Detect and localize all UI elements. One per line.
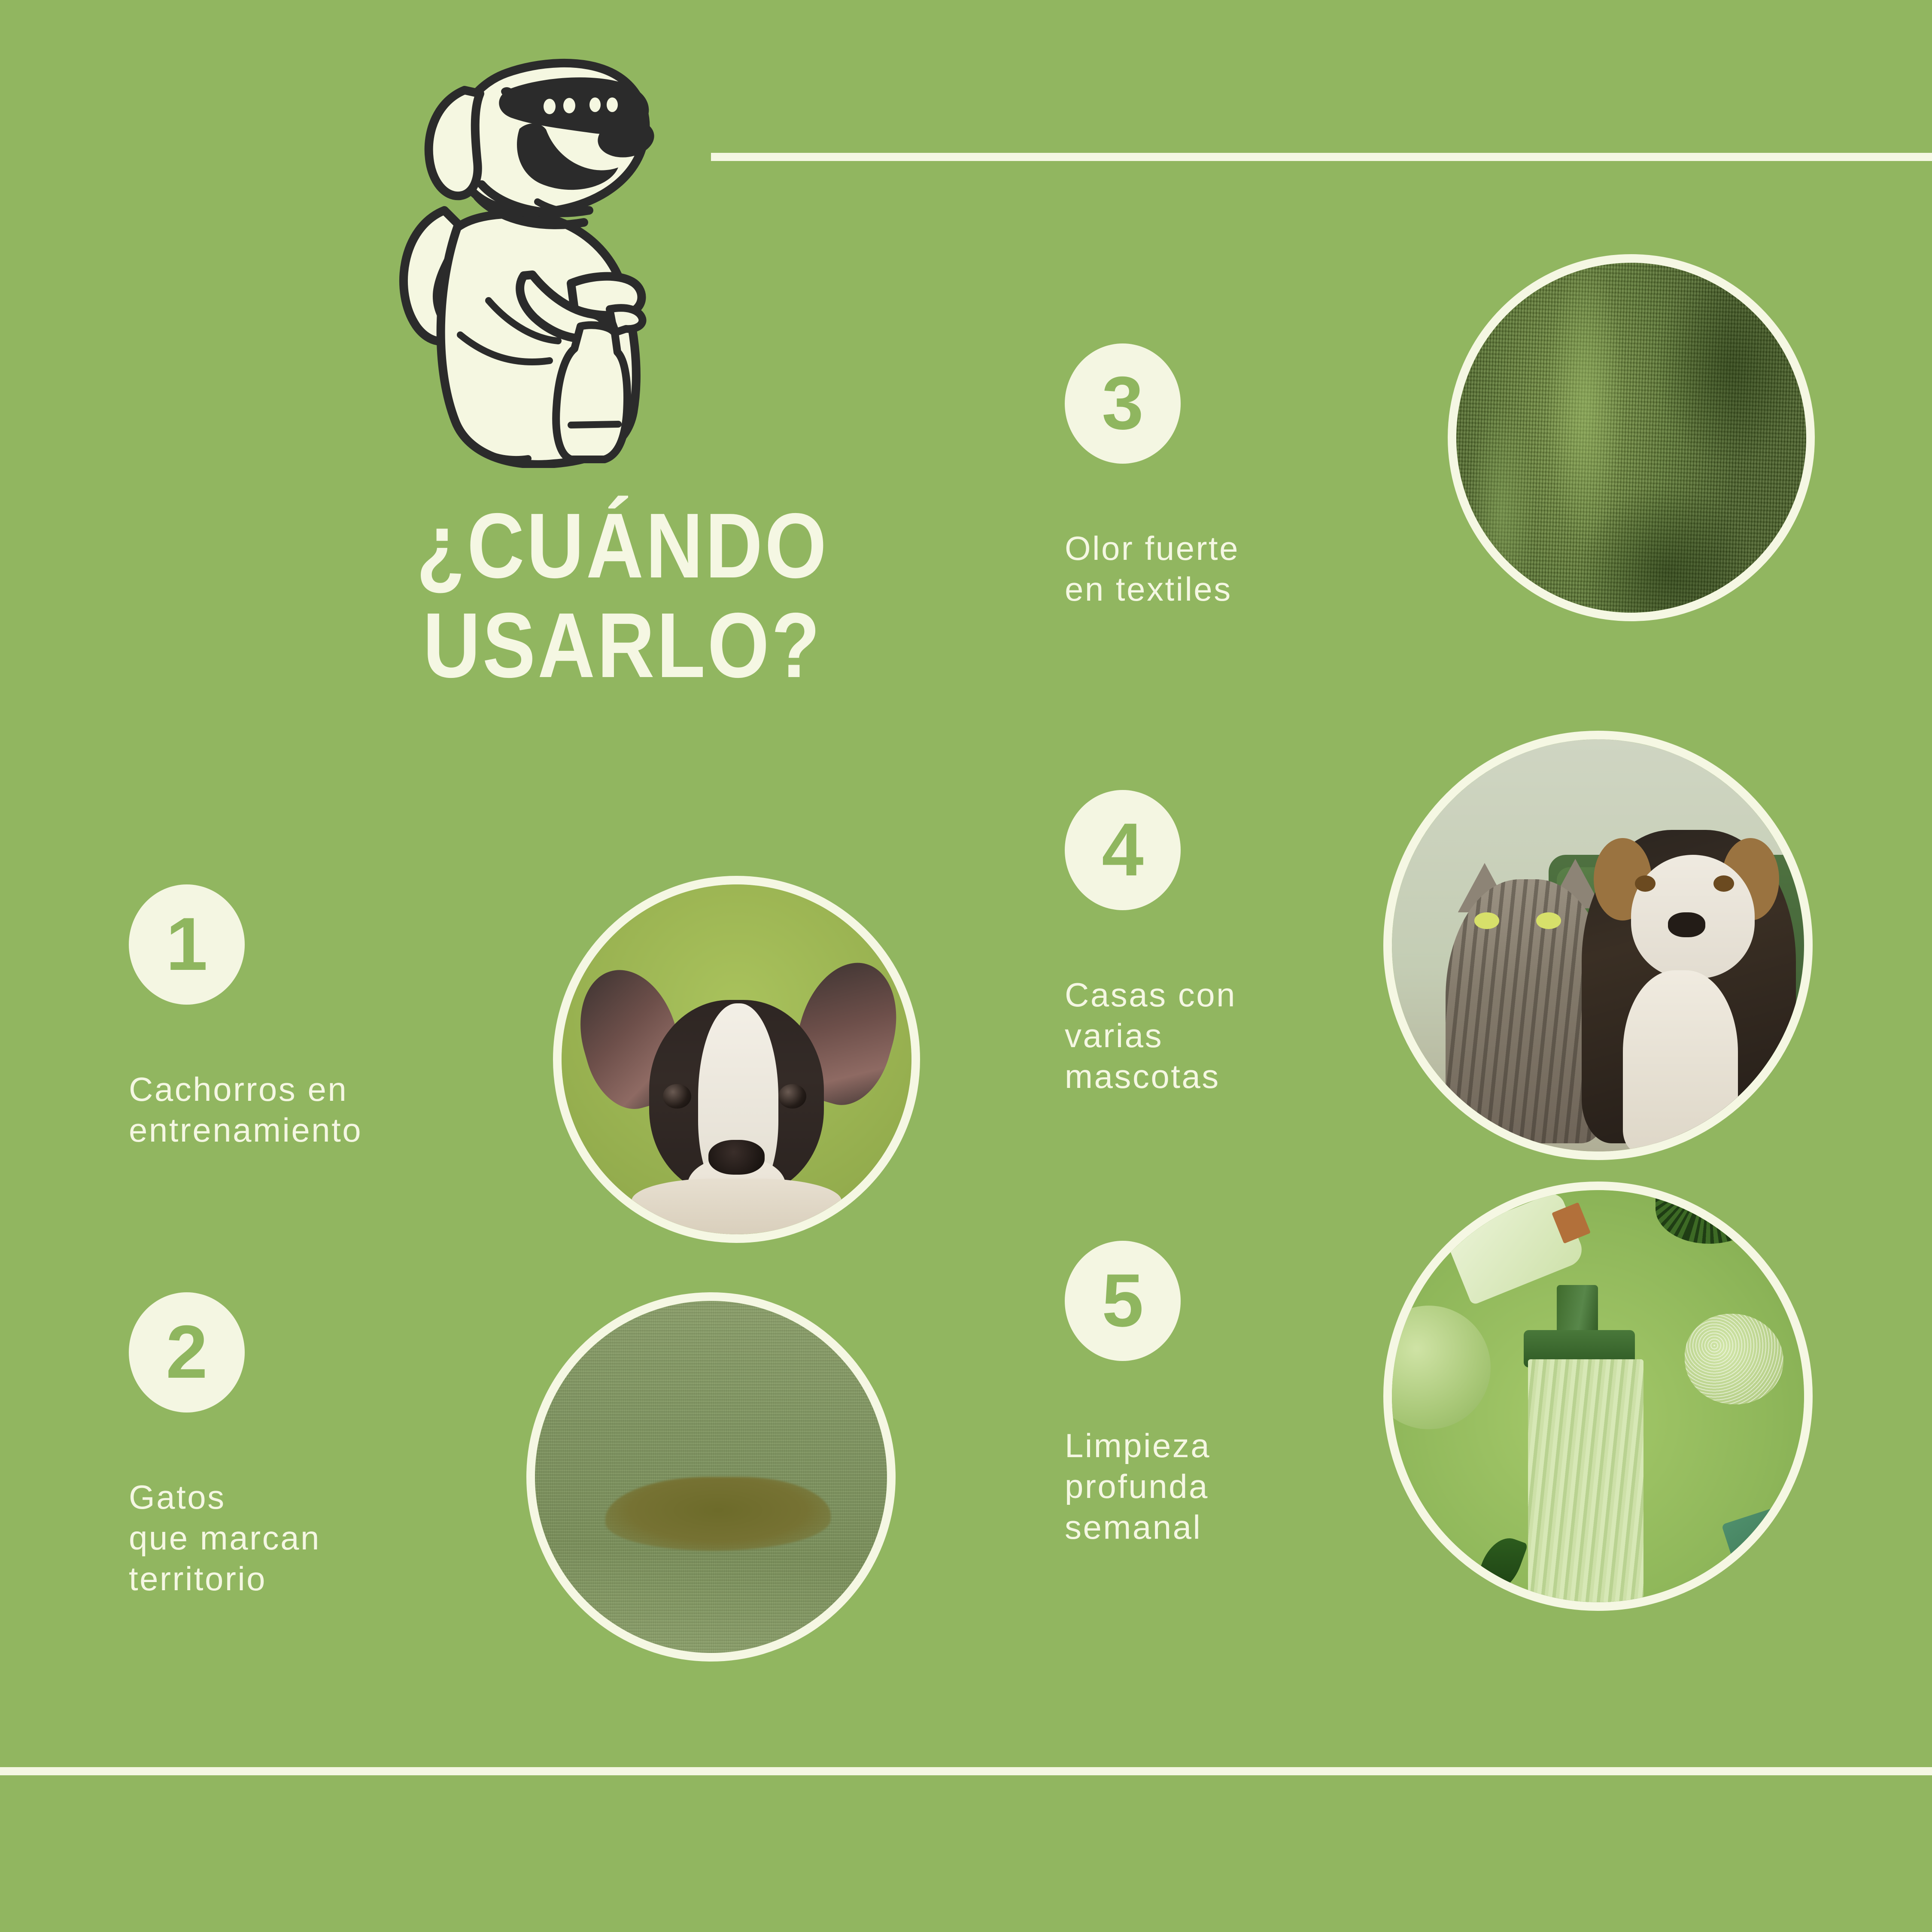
- bottom-divider-line: [0, 1767, 1932, 1775]
- step-label-2: Gatos que marcan territorio: [129, 1477, 321, 1599]
- photo-cleaning-supplies: [1383, 1182, 1813, 1611]
- photo-green-knit-fabric: [1448, 254, 1815, 621]
- step-label-1: Cachorros en entrenamiento: [129, 1069, 362, 1151]
- page-title: ¿CUÁNDO USARLO?: [346, 496, 899, 695]
- photo-carpet-stain: [526, 1292, 896, 1662]
- step-number-badge-3: 3: [1065, 343, 1181, 464]
- masked-dog-mascot-icon: [369, 26, 670, 468]
- step-number-badge-2: 2: [129, 1292, 245, 1413]
- step-label-4: Casas con varias mascotas: [1065, 975, 1236, 1097]
- title-line-2: USARLO?: [346, 595, 899, 695]
- step-number-badge-4: 4: [1065, 790, 1181, 910]
- step-number-badge-5: 5: [1065, 1241, 1181, 1361]
- photo-cat-and-dog-on-sofa: [1383, 731, 1813, 1160]
- step-label-3: Olor fuerte en textiles: [1065, 528, 1239, 610]
- infographic-canvas: ¿CUÁNDO USARLO? 1 Cachorros en entrenami…: [0, 0, 1932, 1932]
- photo-french-bulldog-puppy: [553, 876, 920, 1243]
- step-number-badge-1: 1: [129, 884, 245, 1005]
- title-line-1: ¿CUÁNDO: [346, 496, 899, 595]
- step-label-5: Limpieza profunda semanal: [1065, 1425, 1211, 1548]
- top-divider-line: [711, 153, 1932, 161]
